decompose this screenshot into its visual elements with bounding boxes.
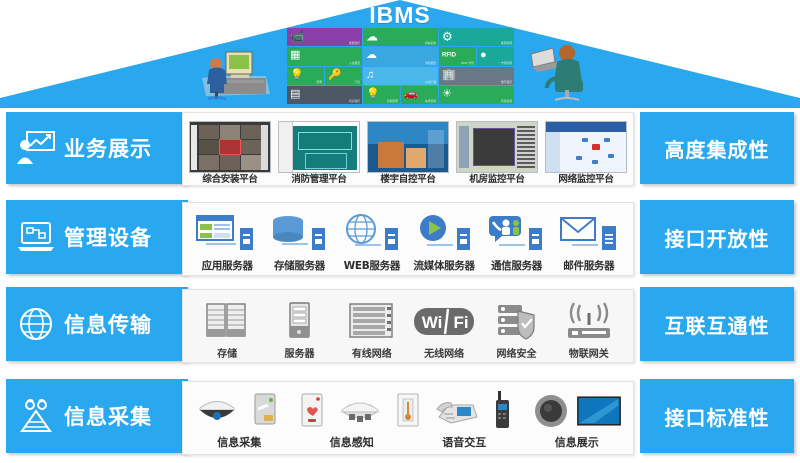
feature-standard-interface[interactable]: 接口标准性 bbox=[640, 379, 794, 453]
datacenter-monitor-screenshot bbox=[456, 121, 538, 173]
key-icon: 🔑 bbox=[328, 70, 342, 81]
desk-telephone-icon bbox=[433, 395, 479, 427]
walkie-talkie-icon bbox=[493, 391, 513, 431]
roof-tile-grid: 📹 视频监控 ☁ 停车系统 ⚙ 能源管理 ▦ 入侵报警 ☁ 消防报警 RFID … bbox=[287, 28, 514, 104]
network-item[interactable]: 有线网络 bbox=[336, 299, 408, 360]
platform-label: 综合安装平台 bbox=[189, 175, 271, 185]
platform-label: 机房监控平台 bbox=[456, 175, 538, 185]
network-item[interactable]: 物联网关 bbox=[553, 299, 625, 360]
roof-tile[interactable]: RFID RFID 卡管 bbox=[439, 47, 476, 65]
application-window-server-icon bbox=[196, 214, 258, 254]
roof-tile[interactable]: ▦ 入侵报警 bbox=[287, 47, 362, 65]
row-management-devices: 管理设备 bbox=[0, 200, 800, 280]
roof-tile[interactable]: ☁ 停车系统 bbox=[363, 28, 438, 46]
feature-label: 接口标准性 bbox=[665, 402, 770, 431]
cloud-icon: ☁ bbox=[366, 31, 378, 43]
roof-tile[interactable]: 💡 智能照明 bbox=[363, 86, 400, 104]
play-button-streaming-server-icon bbox=[413, 214, 475, 254]
server-room-icon: ▤ bbox=[290, 89, 300, 100]
platform-card[interactable]: 综合安装平台 bbox=[189, 121, 271, 185]
cctv-multiview-screenshot bbox=[189, 121, 271, 173]
network-label: 网络安全 bbox=[480, 345, 552, 360]
storage-array-icon bbox=[199, 301, 255, 343]
lamp-icon: 💡 bbox=[290, 70, 304, 81]
building-icon: 🏢 bbox=[442, 70, 456, 81]
roof-tile[interactable]: 🏢 楼宇自控 bbox=[439, 67, 514, 85]
cctv-camera-icon: 📹 bbox=[290, 31, 305, 43]
platform-card[interactable]: 网络监控平台 bbox=[545, 121, 627, 185]
wifi-logo-icon: Wi Fi bbox=[412, 301, 476, 343]
roof-tile[interactable]: 🚗 车库管理 bbox=[401, 86, 438, 104]
server-label: 通信服务器 bbox=[480, 258, 552, 273]
roof-tile[interactable]: 🔑 门禁 bbox=[325, 67, 362, 85]
ceiling-speaker-icon bbox=[532, 392, 570, 430]
server-label: 邮件服务器 bbox=[553, 258, 625, 273]
sidebar-item-business-display[interactable]: 业务展示 bbox=[6, 112, 188, 184]
network-label: 服务器 bbox=[263, 345, 335, 360]
management-devices-panel: 应用服务器 存储服务器 bbox=[182, 202, 634, 276]
music-note-icon: ♫ bbox=[366, 70, 374, 81]
server-label: WEB服务器 bbox=[336, 258, 408, 273]
ibms-architecture-diagram: IBMS 📹 视频监控 ☁ 停车系统 ⚙ 能源管理 ▦ 入侵报警 ☁ 消防报警 … bbox=[0, 0, 800, 463]
presentation-person-icon bbox=[16, 130, 56, 166]
sidebar-label: 信息采集 bbox=[64, 401, 152, 431]
badge-icon: ● bbox=[480, 50, 487, 61]
device-item[interactable] bbox=[194, 389, 240, 433]
communication-people-server-icon bbox=[485, 214, 547, 254]
platform-label: 楼宇自控平台 bbox=[367, 175, 449, 185]
patch-panel-icon bbox=[342, 301, 402, 343]
gear-icon: ⚙ bbox=[442, 31, 453, 43]
network-item[interactable]: 网络安全 bbox=[480, 299, 552, 360]
server-item[interactable]: 通信服务器 bbox=[480, 211, 552, 273]
business-display-panel: 综合安装平台 消防管理平台 楼宇自控平台 机房监控平台 bbox=[182, 112, 634, 186]
emergency-call-button-icon bbox=[298, 392, 326, 430]
device-item[interactable] bbox=[385, 389, 431, 433]
dome-camera-icon bbox=[196, 394, 238, 428]
envelope-mail-server-icon bbox=[558, 214, 620, 254]
sidebar-label: 业务展示 bbox=[64, 133, 152, 163]
feature-open-interface[interactable]: 接口开放性 bbox=[640, 200, 794, 274]
display-screen-icon bbox=[576, 393, 622, 429]
bms-scada-screenshot bbox=[367, 121, 449, 173]
row-information-collection: 信息采集 bbox=[0, 375, 800, 461]
group-label: 信息采集 bbox=[183, 434, 296, 450]
server-label: 流媒体服务器 bbox=[408, 258, 480, 273]
roof-tile[interactable]: ⚙ 能源管理 bbox=[439, 28, 514, 46]
group-label: 信息感知 bbox=[296, 434, 409, 450]
device-item[interactable] bbox=[480, 389, 526, 433]
rfid-icon: RFID bbox=[442, 53, 456, 59]
group-label: 语音交互 bbox=[408, 434, 521, 450]
sensor-triangle-icon bbox=[16, 398, 56, 434]
sidebar-item-information-transmission[interactable]: 信息传输 bbox=[6, 287, 188, 361]
server-item[interactable]: 应用服务器 bbox=[191, 211, 263, 273]
platform-card[interactable]: 机房监控平台 bbox=[456, 121, 538, 185]
platform-label: 网络监控平台 bbox=[545, 175, 627, 185]
fire-cad-screenshot bbox=[278, 121, 360, 173]
feature-highly-integrated[interactable]: 高度集成性 bbox=[640, 112, 794, 184]
server-item[interactable]: 流媒体服务器 bbox=[408, 211, 480, 273]
roof-tile[interactable]: ☁ 消防报警 bbox=[363, 47, 438, 65]
weather-icon: ☀ bbox=[442, 89, 452, 100]
database-cylinder-server-icon bbox=[268, 214, 330, 254]
sidebar-label: 管理设备 bbox=[64, 222, 152, 252]
network-label: 无线网络 bbox=[408, 345, 480, 360]
server-tower-icon bbox=[271, 301, 327, 343]
card-reader-icon bbox=[250, 392, 280, 430]
device-item[interactable] bbox=[337, 389, 383, 433]
bulb-icon: 💡 bbox=[366, 89, 380, 100]
device-item[interactable] bbox=[528, 389, 574, 433]
roof-tile[interactable]: ♫ 公共广播 bbox=[363, 67, 438, 85]
information-transmission-panel: 存储 服务器 bbox=[182, 289, 634, 363]
network-label: 存储 bbox=[191, 345, 263, 360]
feature-label: 高度集成性 bbox=[665, 134, 770, 163]
network-label: 有线网络 bbox=[336, 345, 408, 360]
device-item[interactable] bbox=[242, 389, 288, 433]
roof-tile[interactable]: 📹 视频监控 bbox=[287, 28, 362, 46]
server-item[interactable]: WEB服务器 bbox=[336, 211, 408, 273]
sidebar-item-management-devices[interactable]: 管理设备 bbox=[6, 200, 188, 274]
roof-tile[interactable]: ▤ 机房监控 bbox=[287, 86, 362, 104]
fire-alarm-icon: ☁ bbox=[366, 50, 377, 61]
feature-label: 互联互通性 bbox=[665, 310, 770, 339]
roof-tile[interactable]: ● 一卡通管理 bbox=[477, 47, 514, 65]
network-item[interactable]: 服务器 bbox=[263, 299, 335, 360]
car-icon: 🚗 bbox=[404, 89, 418, 100]
device-item[interactable] bbox=[576, 389, 622, 433]
globe-grid-icon bbox=[16, 306, 56, 342]
feature-label: 接口开放性 bbox=[665, 223, 770, 252]
page-title: IBMS bbox=[0, 2, 800, 29]
information-collection-panel: 信息采集 信息感知 语音交互 信息展示 bbox=[182, 381, 634, 455]
group-label: 信息展示 bbox=[521, 434, 634, 450]
device-item[interactable] bbox=[289, 389, 335, 433]
roof-tile[interactable]: ☀ 环境监测 bbox=[439, 86, 514, 104]
feature-interconnectivity[interactable]: 互联互通性 bbox=[640, 287, 794, 361]
platform-label: 消防管理平台 bbox=[278, 175, 360, 185]
roof-section: IBMS 📹 视频监控 ☁ 停车系统 ⚙ 能源管理 ▦ 入侵报警 ☁ 消防报警 … bbox=[0, 0, 800, 108]
svg-text:Wi: Wi bbox=[422, 313, 443, 332]
platform-card[interactable]: 消防管理平台 bbox=[278, 121, 360, 185]
row-information-transmission: 信息传输 存储 bbox=[0, 287, 800, 367]
thermostat-panel-icon bbox=[395, 392, 421, 430]
svg-text:Fi: Fi bbox=[454, 313, 469, 332]
platform-card[interactable]: 楼宇自控平台 bbox=[367, 121, 449, 185]
server-item[interactable]: 存储服务器 bbox=[263, 211, 335, 273]
roof-tile[interactable]: 💡 照明 bbox=[287, 67, 324, 85]
server-label: 应用服务器 bbox=[191, 258, 263, 273]
grid-window-icon: ▦ bbox=[290, 50, 300, 61]
globe-web-server-icon bbox=[341, 214, 403, 254]
sidebar-label: 信息传输 bbox=[64, 309, 152, 339]
device-item[interactable] bbox=[433, 389, 479, 433]
network-item[interactable]: 存储 bbox=[191, 299, 263, 360]
server-shield-icon bbox=[488, 301, 544, 343]
person-at-desktop-computer-illustration bbox=[196, 42, 274, 104]
sidebar-item-information-collection[interactable]: 信息采集 bbox=[6, 379, 188, 453]
smoke-detector-icon bbox=[338, 395, 382, 427]
network-label: 物联网关 bbox=[553, 345, 625, 360]
network-topology-screenshot bbox=[545, 121, 627, 173]
server-label: 存储服务器 bbox=[263, 258, 335, 273]
server-item[interactable]: 邮件服务器 bbox=[553, 211, 625, 273]
laptop-network-icon bbox=[16, 219, 56, 255]
wireless-router-icon bbox=[560, 301, 618, 343]
person-with-laptop-illustration bbox=[527, 40, 602, 104]
network-item[interactable]: Wi Fi 无线网络 bbox=[408, 299, 480, 360]
row-business-display: 业务展示 综合安装平台 消防管理平台 bbox=[0, 112, 800, 190]
